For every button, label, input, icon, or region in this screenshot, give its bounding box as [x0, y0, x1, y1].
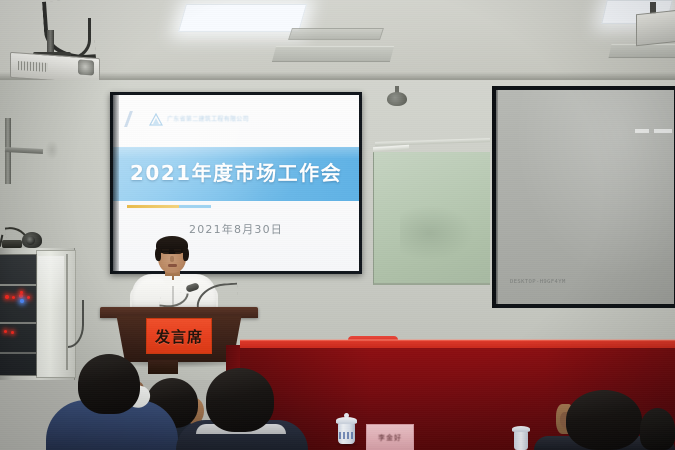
speaker-eyebrow [162, 249, 169, 251]
name-placard: 李金好 [366, 424, 414, 450]
audience-member-head [566, 390, 642, 450]
screen-artifact [654, 129, 672, 133]
speaker-mouth [168, 264, 177, 267]
podium-sign: 发言席 [146, 318, 212, 354]
slide-accent-gold-rule [127, 205, 179, 208]
status-led-icon [20, 299, 24, 303]
porcelain-teacup [514, 430, 528, 450]
rack-side-highlight [38, 256, 64, 308]
slide-company-name: 广东省第二建筑工程有限公司 [167, 114, 312, 123]
slide-logo-row: 广东省第二建筑工程有限公司 [127, 111, 327, 129]
teacup-lid [512, 426, 530, 432]
right-screen-surface: DESKTOP-H9GF4YM [496, 90, 674, 304]
rack-shelf [0, 284, 36, 286]
speaker-nose [170, 256, 174, 262]
ceiling-vent [288, 28, 384, 40]
rack-shelf [0, 322, 36, 324]
camera-lens-icon [26, 236, 35, 245]
wall-scuff [45, 140, 59, 160]
teacup-lid [336, 417, 357, 424]
slide-accent-blue-rule [179, 205, 211, 208]
computer-name-label: DESKTOP-H9GF4YM [510, 279, 566, 285]
teacup-lid-knob [344, 413, 349, 418]
ceiling-light-panel-icon [178, 4, 307, 32]
speaker-eye [175, 252, 181, 254]
left-screen-edge-shadow [110, 92, 119, 274]
slide-date: 2021年8月30日 [113, 221, 359, 237]
speaker-hair-side [183, 248, 189, 261]
status-led-icon [19, 294, 23, 298]
speaker-eye [163, 252, 169, 254]
presentation-slide: 广东省第二建筑工程有限公司 2021年度市场工作会 2021年8月30日 [113, 95, 359, 271]
ceiling-panel-seam [609, 44, 675, 58]
status-led-icon [11, 331, 14, 334]
status-led-icon [5, 295, 9, 299]
speaker-eyebrow [174, 249, 181, 251]
speaker-hair-side [155, 248, 161, 261]
table-edge-highlight [240, 339, 675, 341]
left-projection-screen: 广东省第二建筑工程有限公司 2021年度市场工作会 2021年8月30日 [110, 92, 362, 274]
chalkboard-smudge [400, 205, 474, 261]
triangle-mountain-logo-icon [149, 113, 163, 126]
ceiling-panel-seam [272, 46, 394, 62]
meeting-room-photo: 广东省第二建筑工程有限公司 2021年度市场工作会 2021年8月30日 DES… [0, 0, 675, 450]
podium-base [148, 360, 178, 374]
slide-logo-slash-icon [124, 111, 133, 127]
rack-shelf [0, 352, 36, 354]
audience-member-head [640, 408, 675, 450]
ceiling-projector [636, 10, 675, 46]
audience-member-head [78, 354, 140, 414]
audience-member-head [206, 368, 274, 432]
right-screen-edge-shadow [492, 86, 498, 308]
podium-sign-text: 发言席 [155, 326, 203, 347]
projector-lens-icon [78, 59, 94, 75]
status-led-icon [27, 296, 30, 299]
screen-artifact [635, 129, 649, 133]
name-placard-text: 李金好 [378, 433, 402, 443]
status-led-icon [12, 296, 15, 299]
right-screen-glare [496, 90, 674, 304]
status-led-icon [4, 330, 7, 333]
status-led-icon [20, 291, 23, 294]
teacup-pattern [339, 432, 354, 439]
rack-glass-door[interactable] [0, 254, 37, 376]
slide-title: 2021年度市场工作会 [113, 157, 359, 186]
right-projection-screen: DESKTOP-H9GF4YM [492, 86, 675, 308]
camera-base [2, 240, 22, 248]
wall-mounted-speaker-icon [387, 92, 407, 106]
